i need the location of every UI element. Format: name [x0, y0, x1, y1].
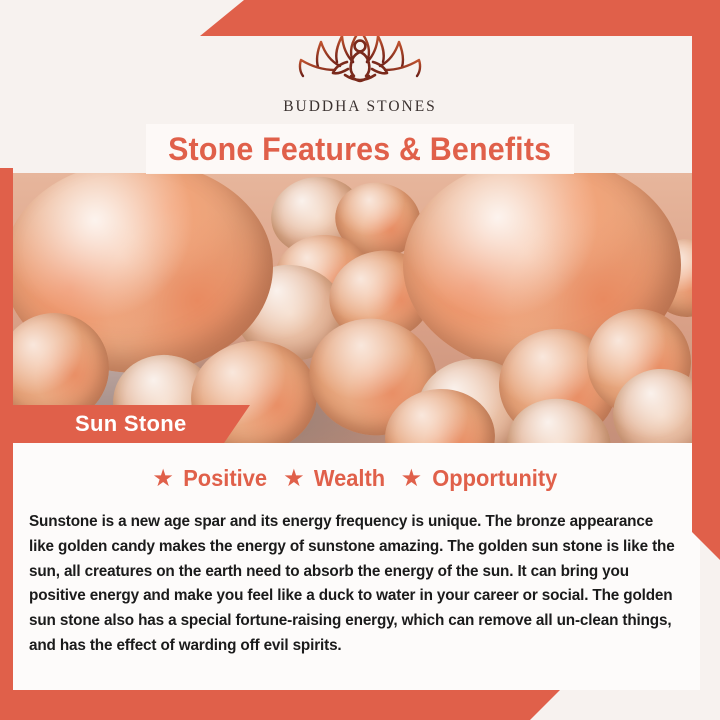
frame-border-bottom: [0, 690, 560, 720]
benefit-label: Opportunity: [432, 465, 557, 492]
description-text: Sunstone is a new age spar and its energ…: [29, 510, 678, 659]
stone-name-label: Sun Stone: [0, 411, 186, 437]
benefit-item: ★ Opportunity: [401, 465, 561, 492]
benefit-label: Wealth: [313, 465, 384, 492]
benefits-list: ★ Positive ★ Wealth ★ Opportunity: [13, 443, 700, 492]
product-photo: [13, 173, 700, 443]
frame-border-top: [200, 0, 720, 36]
star-icon: ★: [152, 467, 174, 491]
frame-border-right: [692, 0, 720, 560]
frame-border-left: [0, 168, 13, 720]
star-icon: ★: [401, 467, 423, 491]
benefit-item: ★ Positive: [152, 465, 269, 492]
star-icon: ★: [283, 467, 305, 491]
brand-logo: BUDDHA STONES: [0, 22, 720, 122]
infographic-page: BUDDHA STONES Stone Features & Benefits: [0, 0, 720, 720]
stone-name-tag: Sun Stone: [0, 405, 250, 443]
benefit-item: ★ Wealth: [283, 465, 387, 492]
content-card: ★ Positive ★ Wealth ★ Opportunity Sunsto…: [13, 443, 700, 690]
brand-name: BUDDHA STONES: [283, 98, 437, 116]
title-banner: Stone Features & Benefits: [146, 124, 574, 174]
benefit-label: Positive: [183, 465, 267, 492]
page-title: Stone Features & Benefits: [168, 131, 551, 168]
